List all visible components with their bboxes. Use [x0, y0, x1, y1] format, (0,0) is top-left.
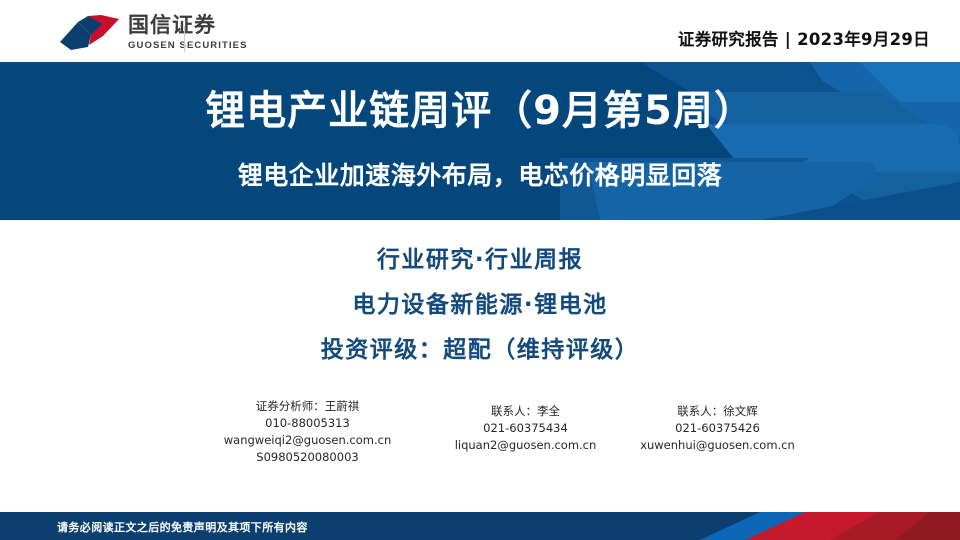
- contact-associate-2: 联系人：徐文辉 021-60375426 xuwenhui@guosen.com…: [620, 403, 815, 454]
- report-title: 锂电产业链周评（9月第5周）: [0, 88, 960, 134]
- report-subtitle: 锂电企业加速海外布局，电芯价格明显回落: [0, 161, 960, 191]
- contact-email[interactable]: xuwenhui@guosen.com.cn: [620, 437, 815, 454]
- report-classification: 行业研究·行业周报 电力设备新能源·锂电池 投资评级：超配（维持评级）: [0, 220, 960, 362]
- title-banner: 锂电产业链周评（9月第5周） 锂电企业加速海外布局，电芯价格明显回落: [0, 62, 960, 220]
- contact-email[interactable]: wangweiqi2@guosen.com.cn: [195, 432, 420, 449]
- research-category: 行业研究·行业周报: [0, 249, 960, 272]
- contact-name: 联系人：李全: [428, 403, 623, 420]
- contact-analyst: 证券分析师：王蔚祺 010-88005313 wangweiqi2@guosen…: [195, 398, 420, 466]
- contact-phone[interactable]: 021-60375426: [620, 420, 815, 437]
- guosen-chevron-logo-icon: [58, 14, 120, 52]
- logo-divider: [184, 26, 185, 52]
- contact-name: 联系人：徐文辉: [620, 403, 815, 420]
- industry-sector: 电力设备新能源·锂电池: [0, 294, 960, 317]
- report-meta: 证券研究报告 | 2023年9月29日: [678, 26, 930, 50]
- contact-email[interactable]: liquan2@guosen.com.cn: [428, 437, 623, 454]
- brand-logo[interactable]: 国信证券 GUOSEN SECURITIES: [58, 14, 248, 52]
- logo-name-cn: 国信证券: [128, 15, 248, 36]
- footer-disclaimer: 请务必阅读正文之后的免责声明及其项下所有内容: [57, 519, 308, 535]
- investment-rating: 投资评级：超配（维持评级）: [0, 339, 960, 362]
- page-footer: 请务必阅读正文之后的免责声明及其项下所有内容: [0, 512, 960, 540]
- logo-name-en: GUOSEN SECURITIES: [128, 41, 248, 51]
- contact-phone[interactable]: 010-88005313: [195, 415, 420, 432]
- contact-name: 证券分析师：王蔚祺: [195, 398, 420, 415]
- contact-associate-1: 联系人：李全 021-60375434 liquan2@guosen.com.c…: [428, 403, 623, 454]
- page-header: 国信证券 GUOSEN SECURITIES 证券研究报告 | 2023年9月2…: [0, 0, 960, 62]
- contact-license: S0980520080003: [195, 449, 420, 466]
- banner-chevron-decoration-icon: [0, 62, 960, 220]
- contact-phone[interactable]: 021-60375434: [428, 420, 623, 437]
- contacts-section: 证券分析师：王蔚祺 010-88005313 wangweiqi2@guosen…: [0, 392, 960, 482]
